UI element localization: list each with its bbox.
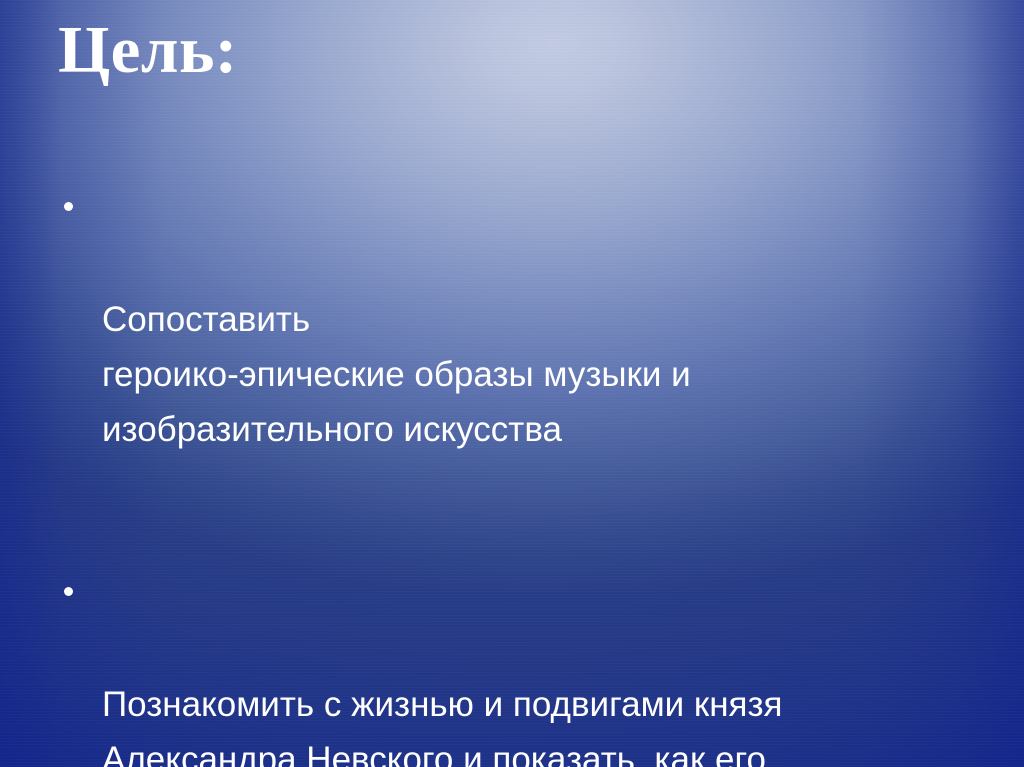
bullet-list-item: Познакомить с жизнью и подвигами князя А… <box>56 567 976 767</box>
bullet-list-item: Сопоставить героико-эпические образы муз… <box>56 182 976 512</box>
bullet-item-text: Познакомить с жизнью и подвигами князя А… <box>102 677 976 767</box>
slide-content: Цель: Сопоставить героико-эпические обра… <box>0 0 1024 767</box>
presentation-slide: Цель: Сопоставить героико-эпические обра… <box>0 0 1024 767</box>
bullet-dot-icon <box>64 587 73 596</box>
bullet-dot-icon <box>64 202 73 211</box>
slide-body-bullet-list: Сопоставить героико-эпические образы муз… <box>56 182 976 767</box>
bullet-item-text: Сопоставить героико-эпические образы муз… <box>102 292 976 457</box>
slide-title: Цель: <box>58 12 238 89</box>
